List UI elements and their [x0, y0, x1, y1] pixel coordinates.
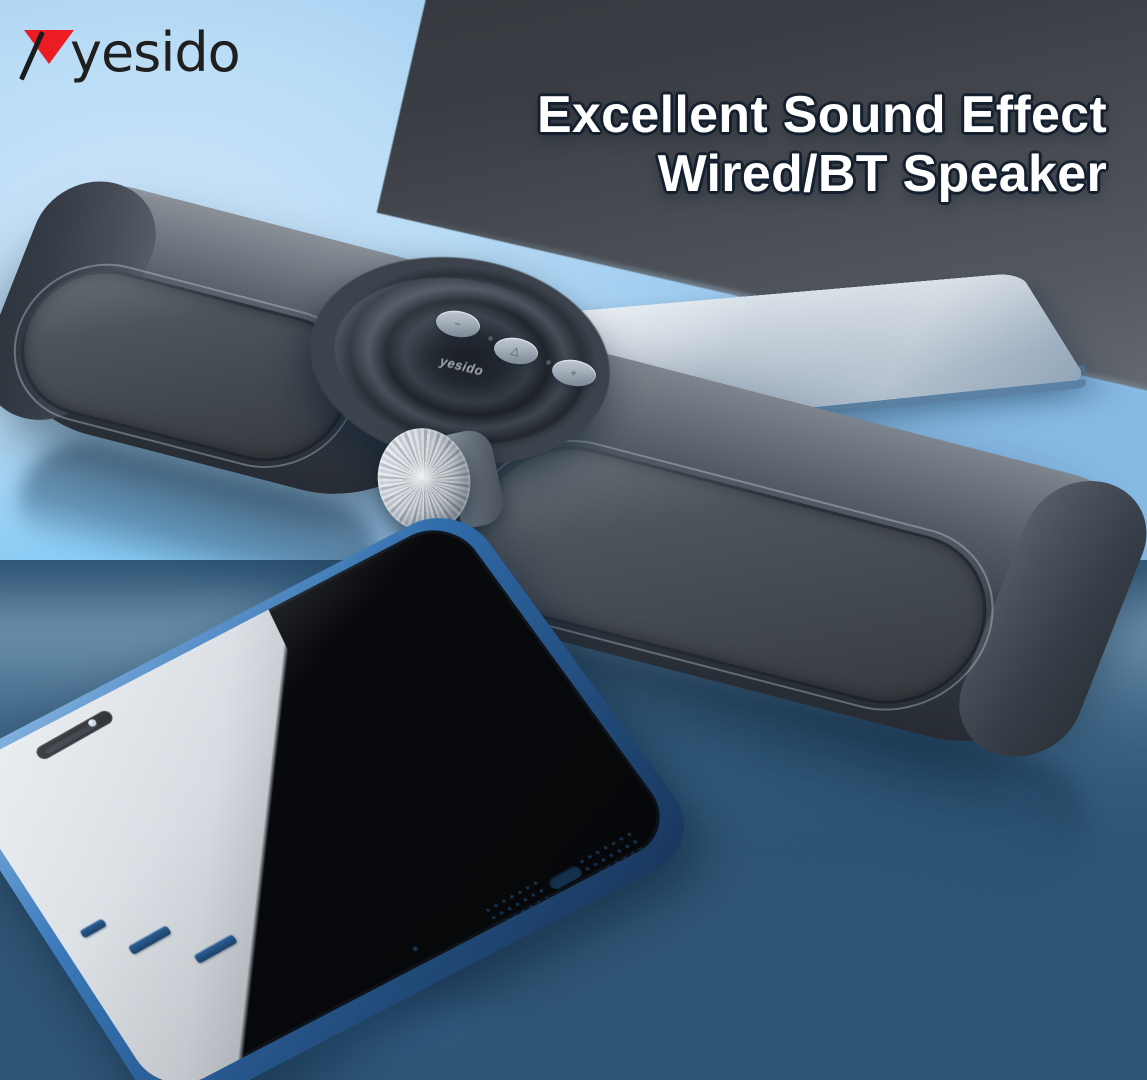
logo-triangle-icon [22, 24, 76, 78]
indicator-led [488, 336, 493, 341]
speaker-left-endcap [0, 168, 174, 432]
headline-line-1: Excellent Sound Effect [537, 86, 1107, 144]
headline-line-2: Wired/BT Speaker [537, 145, 1107, 204]
brand-logo: yesido [22, 20, 240, 78]
triangle-icon: △ [510, 345, 522, 357]
minus-icon: − [453, 318, 463, 330]
headline: Excellent Sound Effect Wired/BT Speaker [537, 86, 1107, 204]
brand-logo-text: yesido [70, 26, 240, 80]
product-marketing-banner: − △ + yesido yesido Excellent [0, 0, 1147, 1080]
indicator-led [546, 360, 551, 365]
plus-icon: + [569, 367, 579, 379]
